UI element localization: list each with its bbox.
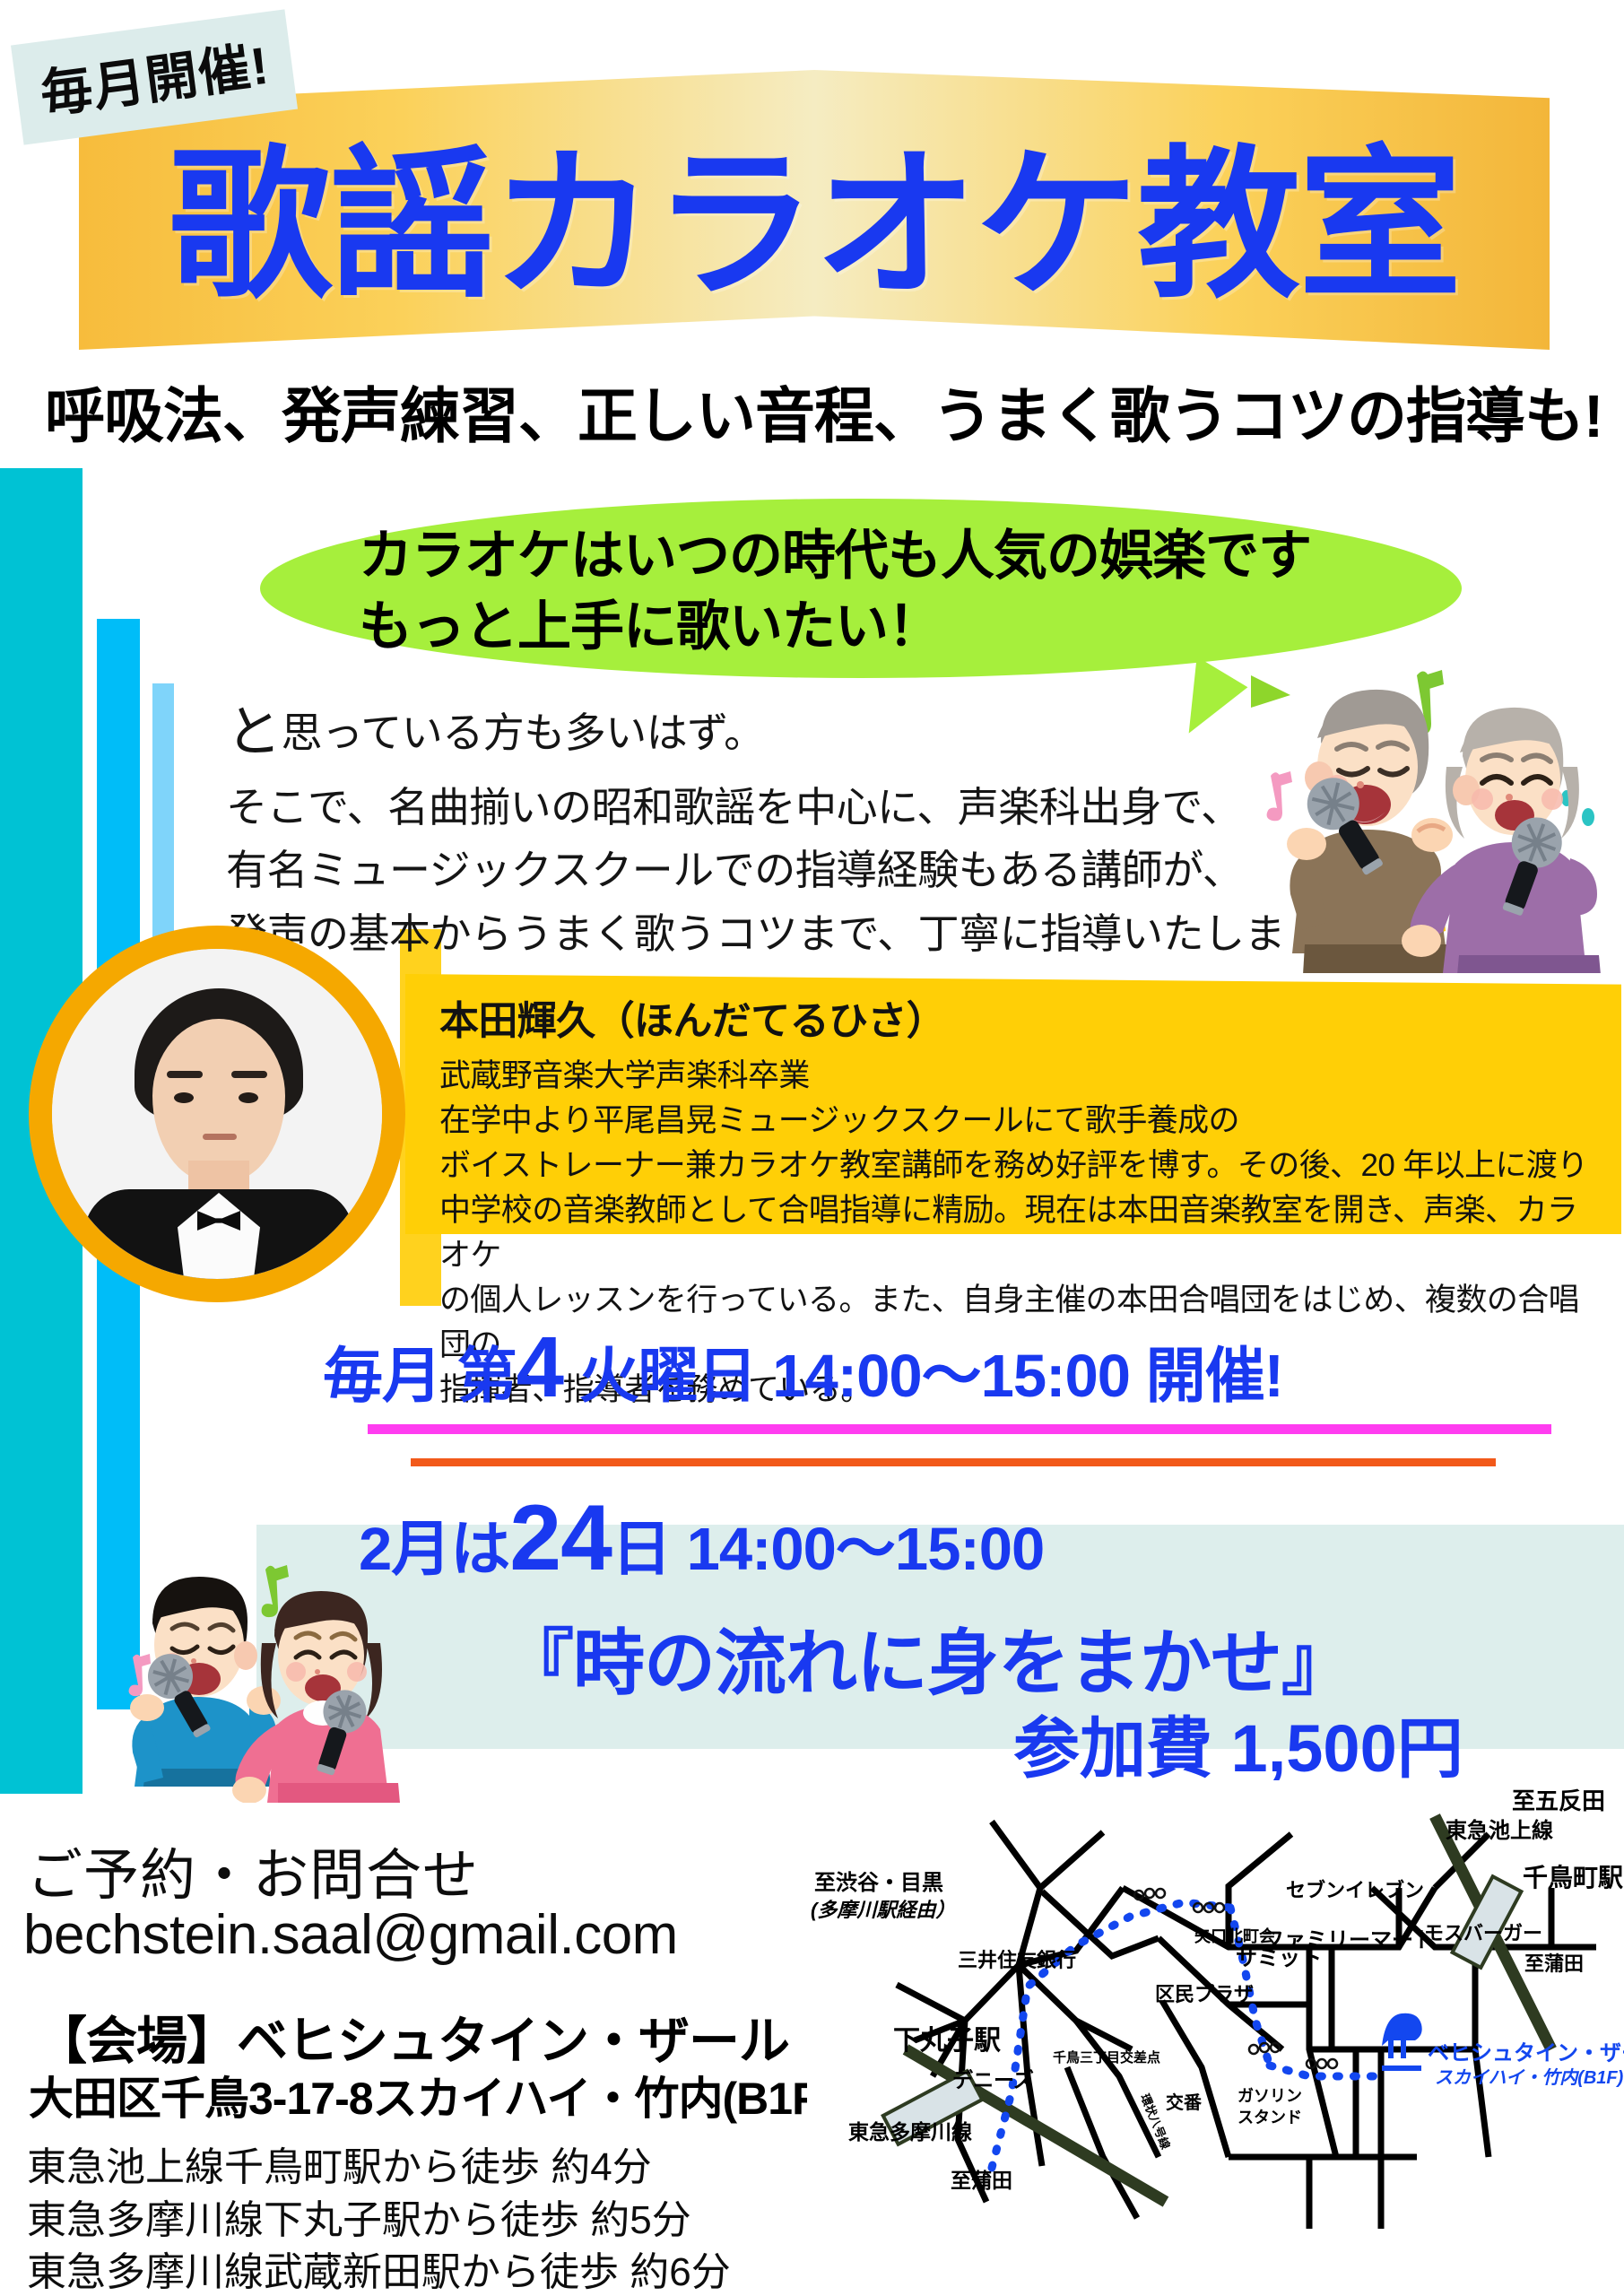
divider-orange xyxy=(411,1458,1496,1466)
participation-fee: 参加費 1,500円 xyxy=(1013,1695,1463,1791)
map-label-tokyu-ikegami: 東急池上線 xyxy=(1446,1818,1553,1843)
contact-email[interactable]: bechstein.saal@gmail.com xyxy=(23,1903,678,1967)
map-label-shimomaruko: 下丸子駅 xyxy=(893,2026,1001,2056)
intro-line-1-rest: 思っている方も多いはず。 xyxy=(282,709,765,756)
photo-eye-right xyxy=(239,1092,258,1103)
bubble-line-2: もっと上手に歌いたい！ xyxy=(359,591,1435,662)
access-info: 東急池上線千鳥町駅から徒歩 約4分 東急多摩川線下丸子駅から徒歩 約5分 東急多… xyxy=(27,2142,731,2296)
february-suffix: 日 14:00〜15:00 xyxy=(612,1516,1044,1583)
venue-address: 大田区千鳥3-17-8スカイハイ・竹内(B1F) xyxy=(29,2063,832,2127)
bubble-line-1: カラオケはいつの時代も人気の娯楽です xyxy=(359,520,1435,591)
map-label-to-kamata-right: 至蒲田 xyxy=(1524,1952,1584,1975)
map-label-gas-1: ガソリン xyxy=(1238,2087,1302,2105)
song-title: 『時の流れに身をまかせ』 xyxy=(502,1605,1578,1709)
photo-brow-left xyxy=(167,1071,203,1078)
location-map: 至渋谷・目黒 (多摩川駅経由） 三井住友銀行 区民プラザ ファミリーマート 下丸… xyxy=(807,1780,1624,2247)
flyer-page: 歌謡カラオケ教室 毎月開催! 呼吸法、発声練習、正しい音程、うまく歌うコツの指導… xyxy=(0,0,1624,2296)
bio-line: 中学校の音楽教師として合唱指導に精励。現在は本田音楽教室を開き、声楽、カラオケ xyxy=(439,1188,1605,1278)
map-label-venue-1: ベヒシュタイン・ザール xyxy=(1428,2041,1624,2066)
access-line: 東急多摩川線下丸子駅から徒歩 約5分 xyxy=(27,2195,731,2248)
map-label-dennys: デニーズ xyxy=(952,2068,1034,2092)
divider-magenta xyxy=(368,1424,1551,1434)
monthly-prefix: 毎月 第 xyxy=(323,1343,517,1410)
map-label-chidoricho: 千鳥町駅 xyxy=(1523,1863,1623,1892)
february-prefix: 2月は xyxy=(359,1516,509,1583)
instructor-name: 本田輝久（ほんだてるひさ） xyxy=(439,994,1605,1050)
contact-heading: ご予約・お問合せ xyxy=(27,1830,479,1910)
map-label-summit: サミット xyxy=(1236,1946,1322,1970)
photo-mouth xyxy=(203,1134,237,1140)
monthly-number: 4 xyxy=(517,1319,563,1415)
map-label-kumin-plaza: 区民プラザ xyxy=(1155,1983,1254,2005)
access-line: 東急多摩川線武蔵新田駅から徒歩 約6分 xyxy=(27,2247,731,2296)
map-label-tokyu-tamagawa: 東急多摩川線 xyxy=(848,2120,972,2144)
february-schedule: 2月は24日 14:00〜15:00 xyxy=(359,1485,1524,1592)
elderly-couple-singing-icon xyxy=(1251,659,1610,973)
map-label-mos-burger: モスバーガー xyxy=(1424,1922,1542,1944)
instructor-photo xyxy=(52,949,382,1279)
map-label-yaguchi: 矢口北町会 xyxy=(1194,1926,1275,1945)
bio-line: ボイストレーナー兼カラオケ教室講師を務め好評を博す。その後、20 年以上に渡り xyxy=(439,1144,1605,1188)
map-label-chidori-3chome: 千鳥三丁目交差点 xyxy=(1053,2049,1160,2066)
bio-line: 武蔵野音楽大学声楽科卒業 xyxy=(439,1054,1605,1099)
map-label-to-kamata-left: 至蒲田 xyxy=(951,2169,1012,2192)
photo-face xyxy=(152,1019,285,1182)
page-title: 歌謡カラオケ教室 xyxy=(79,90,1550,332)
monthly-suffix: 火曜日 14:00〜15:00 開催! xyxy=(579,1343,1283,1410)
access-line: 東急池上線千鳥町駅から徒歩 約4分 xyxy=(27,2142,731,2195)
map-label-koban: 交番 xyxy=(1166,2092,1203,2113)
intro-lead-char: と xyxy=(226,701,282,763)
subtitle: 呼吸法、発声練習、正しい音程、うまく歌うコツの指導も! xyxy=(45,368,1596,455)
intro-line-2: そこで、名曲揃いの昭和歌謡を中心に、声楽科出身で、 xyxy=(226,776,1302,839)
intro-line-3: 有名ミュージックスクールでの指導経験もある講師が、 xyxy=(226,839,1302,901)
map-label-smbc: 三井住友銀行 xyxy=(958,1949,1076,1971)
february-day: 24 xyxy=(509,1486,612,1590)
photo-eye-left xyxy=(174,1092,194,1103)
monthly-schedule: 毎月 第4 火曜日 14:00〜15:00 開催! xyxy=(323,1318,1578,1417)
bio-line: 在学中より平尾昌晃ミュージックスクールにて歌手養成の xyxy=(439,1099,1605,1144)
map-label-to-gotanda: 至五反田 xyxy=(1512,1787,1605,1814)
map-label-venue-2: スカイハイ・竹内(B1F) xyxy=(1435,2067,1624,2088)
speech-bubble-text: カラオケはいつの時代も人気の娯楽です もっと上手に歌いたい！ xyxy=(359,520,1435,662)
map-label-seven-eleven: セブンイレブン xyxy=(1286,1879,1424,1901)
intro-line-1: と思っている方も多いはず。 xyxy=(226,691,1302,776)
map-label-to-shibuya: 至渋谷・目黒 xyxy=(814,1871,943,1895)
avatar xyxy=(29,926,405,1302)
map-label-to-shibuya-sub: (多摩川駅経由） xyxy=(811,1899,955,1921)
map-label-gas-2: スタンド xyxy=(1238,2109,1302,2126)
photo-brow-right xyxy=(231,1071,267,1078)
